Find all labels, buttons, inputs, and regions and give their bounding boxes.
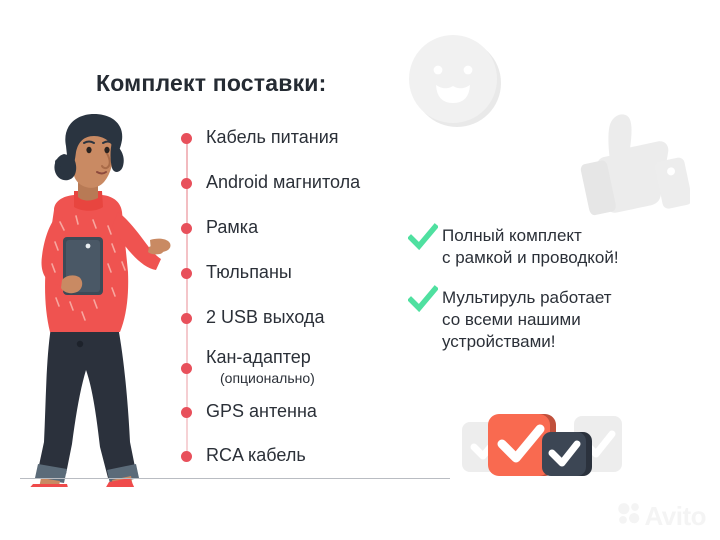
avito-watermark: Avito — [617, 501, 706, 530]
woman-with-tablet-illustration — [8, 112, 173, 487]
list-item-label: Тюльпаны — [206, 262, 292, 282]
benefit-item: Мультируль работает со всеми нашими устр… — [408, 287, 708, 353]
benefit-line-1: Полный комплект — [442, 226, 582, 245]
list-item-sublabel: (опционально) — [220, 369, 315, 387]
list-item: Кан-адаптер (опционально) — [176, 346, 315, 387]
green-check-icon — [408, 223, 438, 253]
list-item-label: Android магнитола — [206, 172, 360, 192]
list-item-label: RCA кабель — [206, 445, 306, 465]
bullet-dot-icon — [181, 407, 192, 418]
thumbs-up-icon — [568, 108, 690, 224]
benefit-line-2: с рамкой и проводкой! — [442, 248, 619, 267]
list-item-label: Кабель питания — [206, 127, 339, 147]
avito-watermark-text: Avito — [644, 503, 706, 529]
bullet-dot-icon — [181, 451, 192, 462]
benefit-line-3: устройствами! — [442, 332, 556, 351]
page-title: Комплект поставки: — [96, 70, 327, 97]
list-item-label: Кан-адаптер — [206, 347, 311, 367]
check-card-cluster-icon — [462, 408, 622, 488]
list-item-label: 2 USB выхода — [206, 307, 324, 327]
list-item: Android магнитола — [176, 171, 360, 194]
bullet-dot-icon — [181, 223, 192, 234]
list-item: Рамка — [176, 216, 258, 239]
bullet-dot-icon — [181, 363, 192, 374]
benefits-list: Полный комплект с рамкой и проводкой! Му… — [408, 225, 708, 371]
list-item: Кабель питания — [176, 126, 339, 149]
green-check-icon — [408, 285, 438, 315]
list-item: GPS антенна — [176, 400, 317, 423]
list-item: 2 USB выхода — [176, 306, 324, 329]
list-item: Тюльпаны — [176, 261, 292, 284]
bullet-dot-icon — [181, 133, 192, 144]
bullet-dot-icon — [181, 268, 192, 279]
bullet-dot-icon — [181, 178, 192, 189]
benefit-line-1: Мультируль работает — [442, 288, 612, 307]
list-item-label: GPS антенна — [206, 401, 317, 421]
bullet-dot-icon — [181, 313, 192, 324]
smiley-face-icon — [400, 25, 510, 135]
promo-canvas: Комплект поставки: — [0, 0, 720, 540]
benefit-item: Полный комплект с рамкой и проводкой! — [408, 225, 708, 269]
list-item: RCA кабель — [176, 444, 306, 467]
list-item-label: Рамка — [206, 217, 258, 237]
benefit-line-2: со всеми нашими — [442, 310, 581, 329]
avito-logo-icon — [617, 501, 641, 530]
ground-line — [20, 478, 450, 479]
